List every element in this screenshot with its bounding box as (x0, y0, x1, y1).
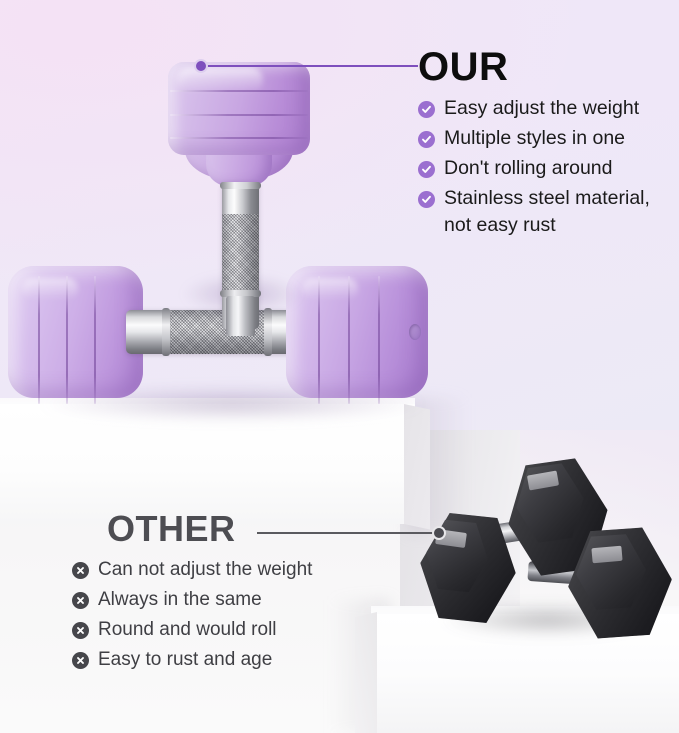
x-circle-icon (72, 622, 89, 639)
knurled-grip-vertical (222, 214, 259, 296)
our-connector-line (200, 65, 418, 67)
drawback-text: Easy to rust and age (98, 646, 272, 673)
feature-text: Multiple styles in one (444, 125, 625, 152)
other-heading: OTHER (74, 508, 392, 550)
weight-block-top (168, 62, 310, 155)
other-connector-dot (432, 526, 446, 540)
weight-plate-left (8, 266, 143, 398)
plate-groove (378, 276, 380, 404)
list-item: Stainless steel material, not easy rust (418, 185, 676, 239)
plate-groove (38, 276, 40, 404)
our-heading: OUR (418, 45, 676, 89)
feature-text: Don't rolling around (444, 155, 613, 182)
list-item: Don't rolling around (418, 155, 676, 182)
list-item: Can not adjust the weight (72, 556, 392, 583)
list-item: Easy to rust and age (72, 646, 392, 673)
x-circle-icon (72, 562, 89, 579)
our-connector-dot (194, 59, 208, 73)
drawback-text: Can not adjust the weight (98, 556, 312, 583)
feature-text: Easy adjust the weight (444, 95, 639, 122)
infographic-canvas: OUR Easy adjust the weight Multiple styl… (0, 0, 679, 733)
check-circle-icon (418, 131, 435, 148)
our-feature-list: Easy adjust the weight Multiple styles i… (418, 95, 676, 239)
x-circle-icon (72, 592, 89, 609)
check-circle-icon (418, 161, 435, 178)
plate-groove (348, 276, 350, 404)
hex-weight-label (591, 546, 622, 564)
drawback-text: Round and would roll (98, 616, 277, 643)
feature-text: Stainless steel material, not easy rust (444, 185, 676, 239)
plate-socket (409, 324, 421, 340)
black-hex-dumbbells (420, 455, 679, 655)
plate-groove (94, 276, 96, 404)
drawback-text: Always in the same (98, 586, 262, 613)
our-panel: OUR Easy adjust the weight Multiple styl… (418, 45, 676, 242)
check-circle-icon (418, 191, 435, 208)
other-panel: OTHER Can not adjust the weight Always i… (72, 508, 392, 676)
plate-groove (66, 276, 68, 404)
plate-highlight (22, 278, 78, 300)
list-item: Always in the same (72, 586, 392, 613)
list-item: Easy adjust the weight (418, 95, 676, 122)
handle-collar (264, 308, 272, 356)
handle-lower-shaft (226, 296, 255, 336)
plate-groove (318, 276, 320, 404)
handle-collar-top (220, 182, 261, 189)
list-item: Multiple styles in one (418, 125, 676, 152)
purple-vertical-dumbbell (168, 62, 310, 312)
block-groove (170, 137, 308, 139)
block-groove (170, 90, 308, 92)
check-circle-icon (418, 101, 435, 118)
handle-collar (162, 308, 170, 356)
other-feature-list: Can not adjust the weight Always in the … (72, 556, 392, 673)
block-groove (170, 114, 308, 116)
list-item: Round and would roll (72, 616, 392, 643)
x-circle-icon (72, 652, 89, 669)
